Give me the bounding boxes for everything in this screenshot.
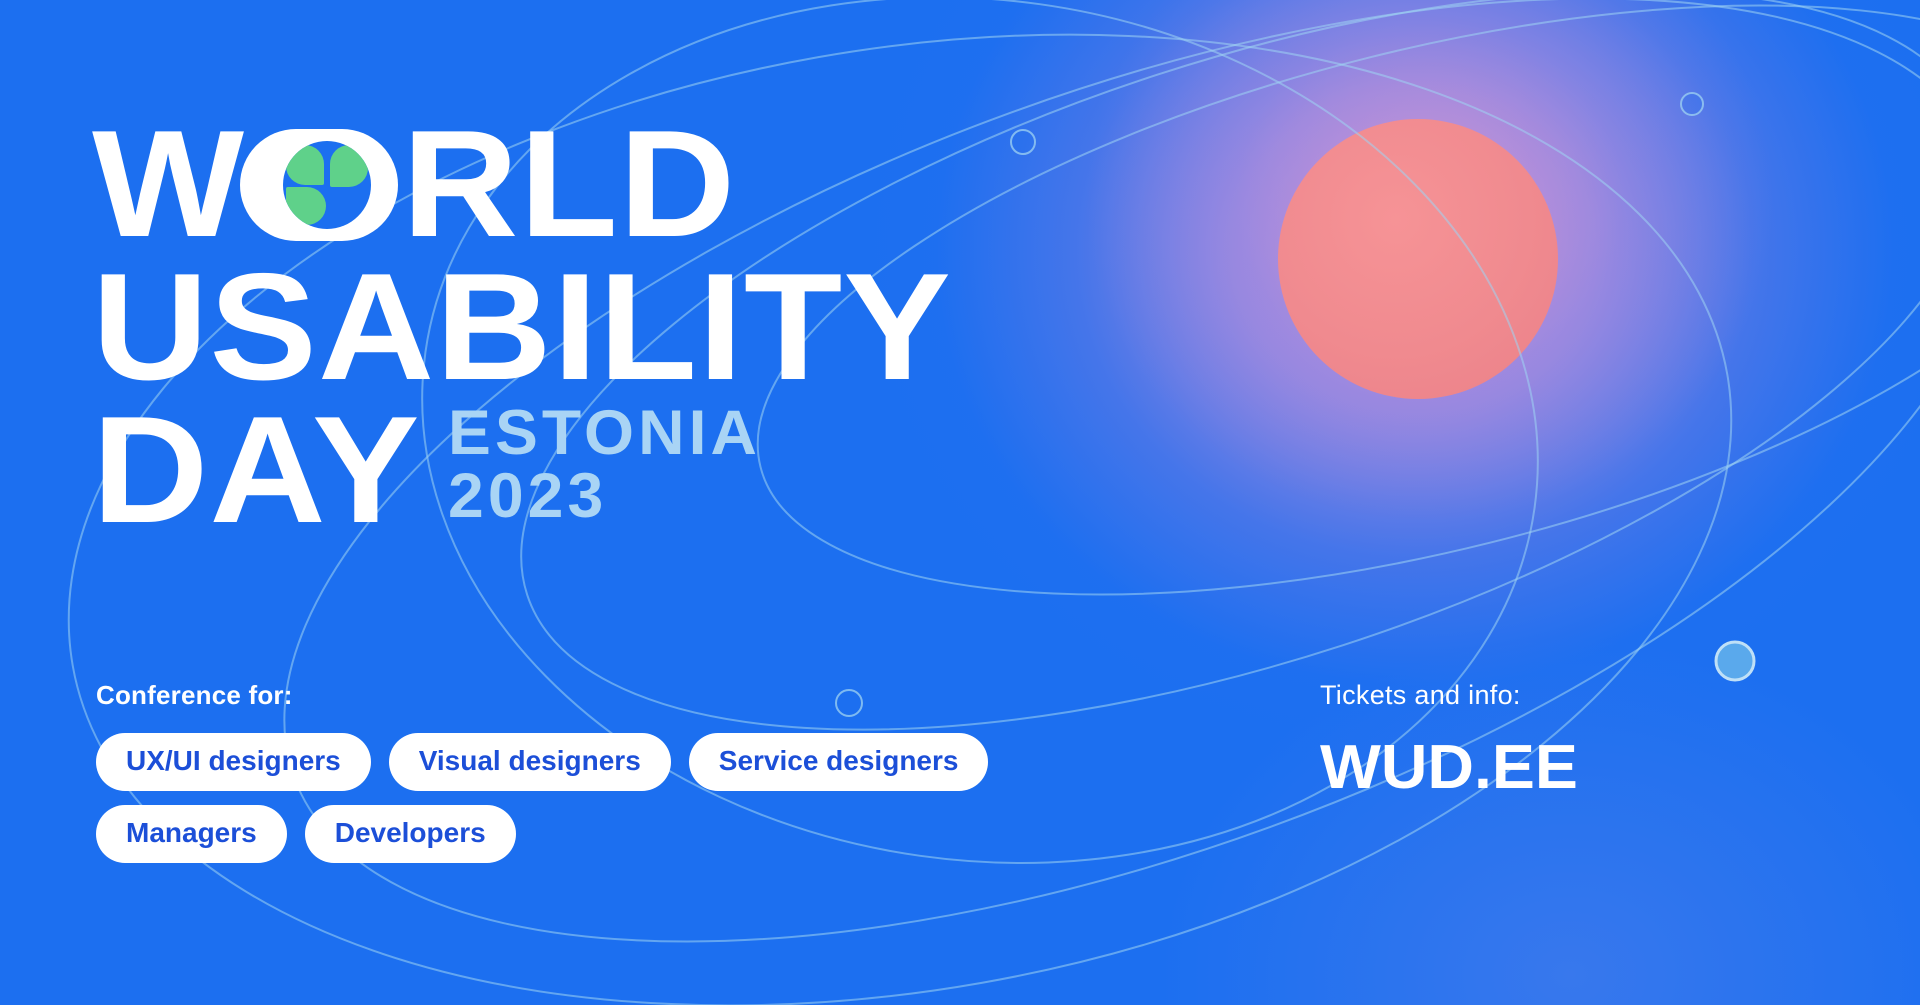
headline-word-w: W [92,116,245,253]
conference-for-block: Conference for: UX/UI designers Visual d… [96,680,1096,863]
tickets-url[interactable]: WUD.EE [1320,737,1798,799]
headline-line-usability: USABILITY [92,259,1422,396]
headline-word-usability: USABILITY [92,259,952,396]
globe-leaf-top-left [286,145,324,185]
subtitle-year: 2023 [448,465,761,528]
headline-word-day: DAY [92,402,421,539]
headline-line-day: DAY ESTONIA 2023 [92,402,1422,539]
tickets-label: Tickets and info: [1320,680,1780,711]
audience-pill-row-1: UX/UI designers Visual designers Service… [96,733,1096,791]
audience-pill-rows: UX/UI designers Visual designers Service… [96,733,1096,863]
audience-pill[interactable]: Developers [305,805,516,863]
subtitle-block: ESTONIA 2023 [448,402,755,528]
globe-leaf-bottom-left [286,187,326,225]
globe-icon [240,129,398,241]
globe-leaf-top-right [330,145,368,187]
tickets-block: Tickets and info: WUD.EE [1320,680,1780,799]
globe-inner-disc [283,141,371,229]
audience-pill[interactable]: Service designers [689,733,989,791]
subtitle-location: ESTONIA [448,402,761,465]
audience-pill-row-2: Managers Developers [96,805,1096,863]
poster-content: W RLD USABILITY DAY ESTONIA 2023 [0,0,1920,1005]
audience-pill[interactable]: Visual designers [389,733,671,791]
audience-pill[interactable]: UX/UI designers [96,733,371,791]
headline-word-rld: RLD [402,116,736,253]
headline-block: W RLD USABILITY DAY ESTONIA 2023 [92,116,1422,538]
audience-pill[interactable]: Managers [96,805,287,863]
conference-for-label: Conference for: [96,680,1096,711]
headline-line-world: W RLD [92,116,1422,253]
poster-canvas: W RLD USABILITY DAY ESTONIA 2023 [0,0,1920,1005]
